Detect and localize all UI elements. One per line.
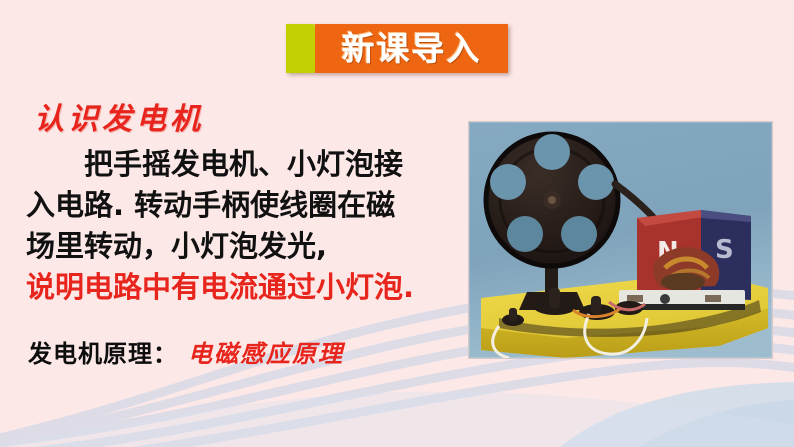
svg-text:S: S (715, 235, 734, 265)
section-heading: 认识发电机 (34, 94, 204, 138)
banner-title-text: 新课导入 (315, 24, 508, 73)
principle-line: 发电机原理：电磁感应原理 (28, 334, 344, 369)
paragraph-line-2: 入电路. 转动手柄使线圈在磁 (26, 185, 446, 226)
paragraph-line-4-emphasis: 说明电路中有电流通过小灯泡. (26, 267, 446, 308)
slide-canvas: 新课导入 认识发电机 把手摇发电机、小灯泡接 入电路. 转动手柄使线圈在磁 场里… (0, 0, 794, 447)
generator-photo-illustration: N S (469, 122, 772, 358)
paragraph-line-3: 场里转动，小灯泡发光, (26, 226, 446, 267)
paragraph-line-1: 把手摇发电机、小灯泡接 (26, 144, 446, 185)
content-column: 认识发电机 把手摇发电机、小灯泡接 入电路. 转动手柄使线圈在磁 场里转动，小灯… (0, 86, 460, 386)
body-paragraph: 把手摇发电机、小灯泡接 入电路. 转动手柄使线圈在磁 场里转动，小灯泡发光, 说… (26, 144, 446, 308)
title-banner: 新课导入 (286, 24, 508, 73)
principle-value: 电磁感应原理 (188, 339, 344, 368)
principle-label: 发电机原理： (28, 339, 178, 368)
generator-photo: N S (469, 122, 772, 358)
